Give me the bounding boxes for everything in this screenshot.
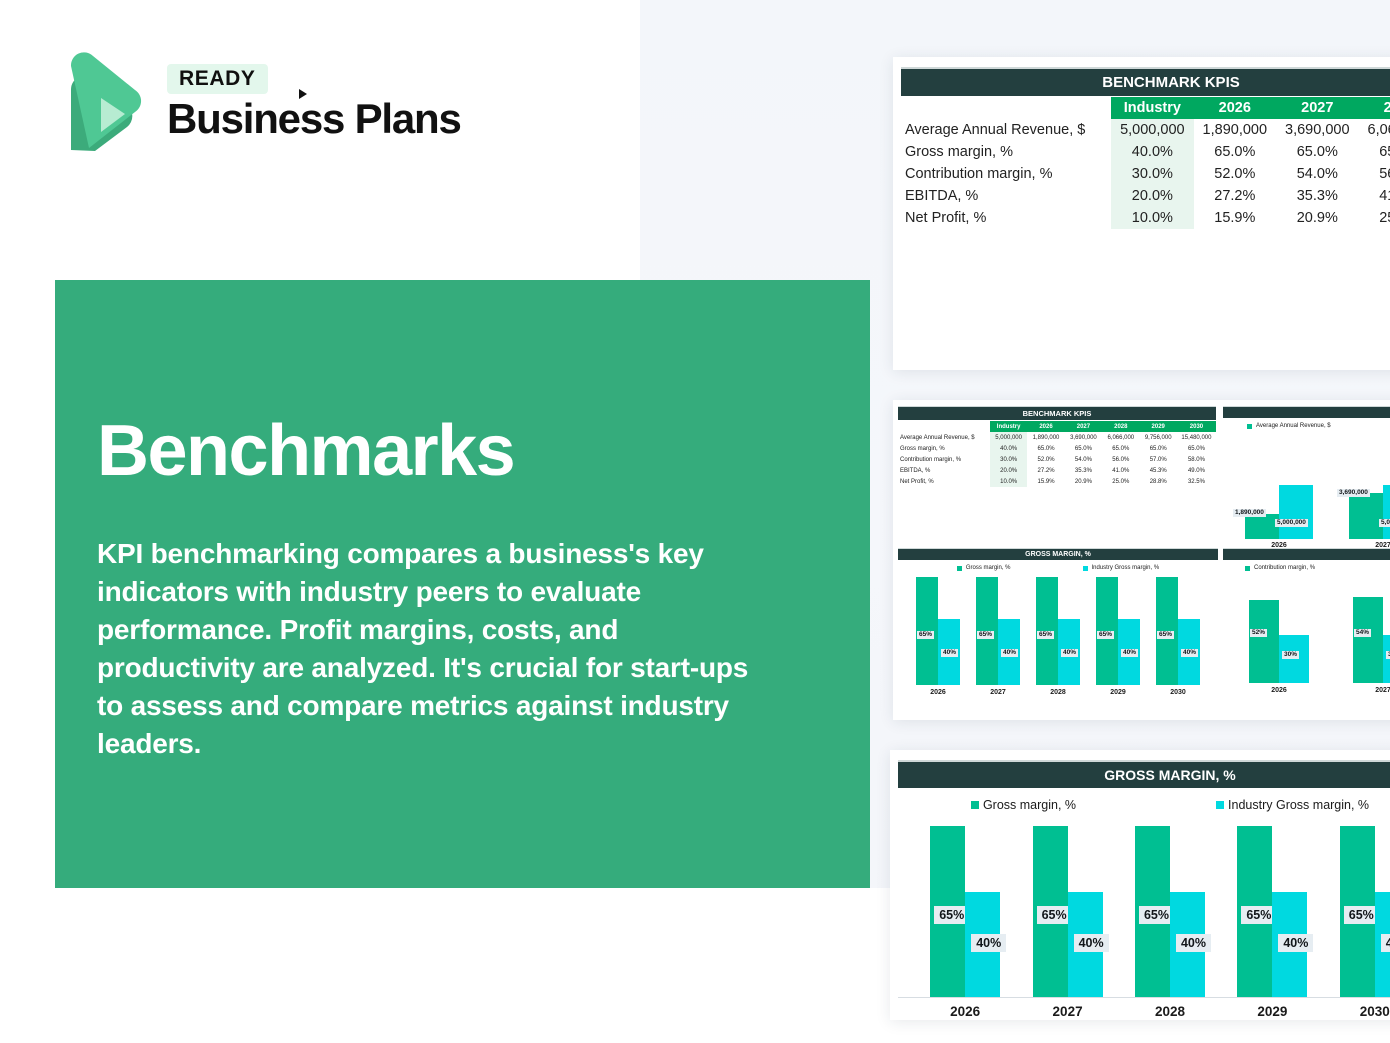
xcat-2028: 2028	[1030, 689, 1086, 696]
bar-label-company-2026: 52%	[1250, 629, 1267, 638]
bar-company-2026: 65%	[916, 577, 938, 685]
table-row: Gross margin, % 40.0% 65.0% 65.0% 65.0% …	[898, 443, 1216, 454]
legend-swatch-cyan-icon	[1083, 566, 1088, 571]
cell-cm-industry: 30.0%	[1111, 163, 1193, 185]
table-row: Contribution margin, % 30.0% 52.0% 54.0%…	[898, 454, 1216, 465]
cell-cm-2028: 56.0%	[1359, 163, 1390, 185]
mini-cell-np-2026: 15.9%	[1027, 476, 1064, 487]
mini-cell-revenue-2028: 6,066,000	[1102, 432, 1139, 443]
bar-company-2028: 65%	[1036, 577, 1058, 685]
bar-label-industry-2027: 5,000,000	[1379, 519, 1390, 528]
cell-ebitda-industry: 20.0%	[1111, 185, 1193, 207]
mini-cell-ebitda-2026: 27.2%	[1027, 465, 1064, 476]
cell-revenue-2026: 1,890,000	[1194, 119, 1276, 141]
mini-col-2028: 2028	[1102, 421, 1139, 432]
bar-industry-2027: 40%	[998, 619, 1020, 685]
chart-legend-gross-margin-large: Gross margin, % Industry Gross margin, %	[898, 798, 1390, 812]
chart-contribution-margin: CONTRIBUTION MARGIN, % Contribution marg…	[1223, 548, 1390, 694]
mini-cell-np-2027: 20.9%	[1065, 476, 1102, 487]
mini-col-2027: 2027	[1065, 421, 1102, 432]
legend-item-company-gm: Gross margin, %	[971, 798, 1076, 812]
bar-group-2026: 65% 40%	[922, 826, 1008, 998]
mini-cell-gm-2028: 65.0%	[1102, 443, 1139, 454]
bar-label-industry-2030: 40%	[1381, 934, 1390, 953]
bar-company-2027: 65%	[1033, 826, 1068, 998]
table-row: Net Profit, % 10.0% 15.9% 20.9% 25.0%	[901, 207, 1390, 229]
legend-item-company-cm: Contribution margin, %	[1245, 565, 1315, 571]
mini-cell-gm-2030: 65.0%	[1177, 443, 1216, 454]
table-header-row: Industry 2026 2027 2028 2029 2030	[898, 421, 1216, 432]
chart-legend-revenue: Average Annual Revenue, $	[1223, 423, 1390, 429]
table-row: Contribution margin, % 30.0% 52.0% 54.0%…	[901, 163, 1390, 185]
bar-label-industry-2028: 40%	[1176, 934, 1211, 953]
hero-description: KPI benchmarking compares a business's k…	[97, 535, 757, 763]
kpi-table-large: BENCHMARK KPIS Industry 2026 2027 2028 A…	[901, 67, 1390, 229]
chart-title-contribution-margin: CONTRIBUTION MARGIN, %	[1223, 548, 1390, 560]
xcat-2030: 2030	[1150, 689, 1206, 696]
legend-label-company-gm: Gross margin, %	[983, 798, 1076, 812]
bar-group-2027: 65% 40%	[970, 577, 1026, 685]
bar-group-2028: 65% 40%	[1030, 577, 1086, 685]
chart-title-revenue: AVERAGE ANNUAL REVENUE, $	[1223, 406, 1390, 418]
bar-industry-2027: 30%	[1383, 635, 1390, 683]
ready-badge: READY	[167, 64, 268, 94]
bar-label-company-2030: 65%	[1344, 906, 1379, 925]
cell-np-2026: 15.9%	[1194, 207, 1276, 229]
mini-row-label-revenue: Average Annual Revenue, $	[898, 432, 990, 443]
mini-col-2029: 2029	[1140, 421, 1177, 432]
bar-label-company-2027: 54%	[1354, 629, 1371, 638]
table-row: EBITDA, % 20.0% 27.2% 35.3% 41.0%	[901, 185, 1390, 207]
mini-cell-ebitda-industry: 20.0%	[990, 465, 1027, 476]
legend-item-company-revenue: Average Annual Revenue, $	[1247, 423, 1331, 429]
mini-cell-gm-2026: 65.0%	[1027, 443, 1064, 454]
row-label-contribution-margin: Contribution margin, %	[901, 163, 1111, 185]
bar-label-industry-2027: 40%	[1074, 934, 1109, 953]
legend-label-company-cm: Contribution margin, %	[1254, 565, 1315, 571]
table-row: Average Annual Revenue, $ 5,000,000 1,89…	[898, 432, 1216, 443]
cell-cm-2026: 52.0%	[1194, 163, 1276, 185]
legend-item-company-gm-small: Gross margin, %	[957, 565, 1011, 571]
mini-row-label-ebitda: EBITDA, %	[898, 465, 990, 476]
bar-label-industry-2026: 40%	[941, 649, 958, 658]
xcat-2028: 2028	[1127, 1004, 1213, 1019]
bar-industry-2027: 40%	[1068, 892, 1103, 998]
panel-benchmark-dashboard: BENCHMARK KPIS Industry 2026 2027 2028 2…	[893, 400, 1390, 720]
table-row: EBITDA, % 20.0% 27.2% 35.3% 41.0% 45.3% …	[898, 465, 1216, 476]
bar-group-2030: 65% 40%	[1150, 577, 1206, 685]
bar-company-2029: 65%	[1237, 826, 1272, 998]
bar-label-company-2029: 65%	[1241, 906, 1276, 925]
mini-cell-gm-2027: 65.0%	[1065, 443, 1102, 454]
row-label-revenue: Average Annual Revenue, $	[901, 119, 1111, 141]
bar-industry-2028: 40%	[1170, 892, 1205, 998]
mini-row-label-gross-margin: Gross margin, %	[898, 443, 990, 454]
xcat-2029: 2029	[1090, 689, 1146, 696]
bar-label-industry-2026: 30%	[1282, 651, 1299, 660]
col-2027: 2027	[1276, 97, 1358, 119]
bar-group-2026: 1,890,000 5,000,000	[1237, 435, 1321, 539]
chart-legend-gross-margin-small: Gross margin, % Industry Gross margin, %	[898, 565, 1218, 571]
kpi-table-title: BENCHMARK KPIS	[901, 67, 1390, 96]
slide-canvas: READY Business Plans Benchmarks KPI benc…	[0, 0, 1390, 1043]
xcat-2027: 2027	[1025, 1004, 1111, 1019]
page-title: Benchmarks	[97, 415, 514, 487]
mini-col-2026: 2026	[1027, 421, 1064, 432]
bar-label-company-2026: 65%	[934, 906, 969, 925]
mini-cell-ebitda-2027: 35.3%	[1065, 465, 1102, 476]
bar-label-industry-2028: 40%	[1061, 649, 1078, 658]
bar-industry-2026: 5,000,000	[1279, 485, 1313, 539]
bar-label-company-2027: 3,690,000	[1337, 489, 1370, 498]
mini-cell-revenue-2029: 9,756,000	[1140, 432, 1177, 443]
bar-industry-2026: 40%	[965, 892, 1000, 998]
xcat-2029: 2029	[1229, 1004, 1315, 1019]
panel-benchmark-kpis-table: BENCHMARK KPIS Industry 2026 2027 2028 A…	[893, 57, 1390, 370]
cell-revenue-industry: 5,000,000	[1111, 119, 1193, 141]
bar-group-2030: 65% 40%	[1332, 826, 1390, 998]
mini-cell-cm-2030: 58.0%	[1177, 454, 1216, 465]
bar-industry-2026: 30%	[1279, 635, 1309, 683]
brand-accent-tick-icon	[299, 89, 307, 99]
mini-cell-gm-2029: 65.0%	[1140, 443, 1177, 454]
row-label-net-profit: Net Profit, %	[901, 207, 1111, 229]
chart-xaxis-gross-margin-large: 2026 2027 2028 2029 2030	[898, 1004, 1390, 1019]
bar-company-2026: 65%	[930, 826, 965, 998]
bar-group-2029: 65% 40%	[1229, 826, 1315, 998]
mini-cell-revenue-2027: 3,690,000	[1065, 432, 1102, 443]
legend-label-company-revenue: Average Annual Revenue, $	[1256, 423, 1331, 429]
cell-gm-2027: 65.0%	[1276, 141, 1358, 163]
legend-swatch-cyan-icon	[1216, 801, 1224, 809]
brand-name: Business Plans	[167, 98, 461, 140]
mini-cell-np-2029: 28.8%	[1140, 476, 1177, 487]
mini-col-2030: 2030	[1177, 421, 1216, 432]
mini-cell-ebitda-2028: 41.0%	[1102, 465, 1139, 476]
bar-company-2026: 1,890,000	[1245, 514, 1279, 539]
bar-label-industry-2026: 40%	[971, 934, 1006, 953]
bar-company-2027: 3,690,000	[1349, 493, 1383, 539]
legend-swatch-green-icon	[1247, 424, 1252, 429]
xcat-2026: 2026	[922, 1004, 1008, 1019]
bar-industry-2026: 40%	[938, 619, 960, 685]
bar-label-industry-2027: 40%	[1001, 649, 1018, 658]
brand-name-text: Business Plans	[167, 95, 461, 142]
cell-revenue-2027: 3,690,000	[1276, 119, 1358, 141]
mini-cell-cm-2027: 54.0%	[1065, 454, 1102, 465]
xcat-2027: 2027	[1341, 687, 1390, 694]
panel-gross-margin-chart: GROSS MARGIN, % Gross margin, % Industry…	[890, 750, 1390, 1020]
cell-np-industry: 10.0%	[1111, 207, 1193, 229]
chart-average-annual-revenue: AVERAGE ANNUAL REVENUE, $ Average Annual…	[1223, 406, 1390, 549]
bar-industry-2029: 40%	[1272, 892, 1307, 998]
bar-label-company-2028: 65%	[1139, 906, 1174, 925]
bar-group-2029: 65% 40%	[1090, 577, 1146, 685]
mini-cell-np-industry: 10.0%	[990, 476, 1027, 487]
chart-legend-contribution-margin: Contribution margin, %	[1223, 565, 1390, 571]
cell-ebitda-2026: 27.2%	[1194, 185, 1276, 207]
bar-group-2027: 54% 30%	[1341, 579, 1390, 683]
col-industry: Industry	[1111, 97, 1193, 119]
bar-group-2026: 52% 30%	[1237, 579, 1321, 683]
brand-logo[interactable]: READY Business Plans	[55, 52, 461, 152]
mini-col-industry: Industry	[990, 421, 1027, 432]
kpi-table: Industry 2026 2027 2028 Average Annual R…	[901, 97, 1390, 229]
mini-cell-np-2030: 32.5%	[1177, 476, 1216, 487]
bar-label-company-2029: 65%	[1097, 631, 1114, 640]
mini-cell-np-2028: 25.0%	[1102, 476, 1139, 487]
bar-group-2028: 65% 40%	[1127, 826, 1213, 998]
bar-industry-2030: 40%	[1375, 892, 1390, 998]
bar-label-industry-2027: 30%	[1386, 651, 1390, 660]
col-2028: 2028	[1359, 97, 1390, 119]
bar-label-company-2026: 1,890,000	[1233, 509, 1266, 518]
legend-swatch-green-icon	[1245, 566, 1250, 571]
chart-xaxis-contribution-margin: 2026 2027 2028	[1223, 687, 1390, 694]
mini-cell-cm-2026: 52.0%	[1027, 454, 1064, 465]
xcat-2027: 2027	[970, 689, 1026, 696]
mini-cell-ebitda-2030: 49.0%	[1177, 465, 1216, 476]
mini-cell-ebitda-2029: 45.3%	[1140, 465, 1177, 476]
bar-company-2028: 65%	[1135, 826, 1170, 998]
table-header-row: Industry 2026 2027 2028	[901, 97, 1390, 119]
bar-group-2027: 3,690,000 5,000,000	[1341, 435, 1390, 539]
row-label-ebitda: EBITDA, %	[901, 185, 1111, 207]
play-triangle-logo-icon	[55, 52, 147, 152]
mini-cell-cm-2029: 57.0%	[1140, 454, 1177, 465]
kpi-table-mini: Industry 2026 2027 2028 2029 2030 Averag…	[898, 421, 1216, 487]
bar-company-2027: 65%	[976, 577, 998, 685]
legend-label-industry-gm: Industry Gross margin, %	[1228, 798, 1369, 812]
legend-label-industry-gm-small: Industry Gross margin, %	[1092, 565, 1160, 571]
row-label-gross-margin: Gross margin, %	[901, 141, 1111, 163]
chart-title-gross-margin-large: GROSS MARGIN, %	[898, 760, 1390, 788]
legend-item-industry-gm: Industry Gross margin, %	[1216, 798, 1369, 812]
hero-panel: Benchmarks KPI benchmarking compares a b…	[55, 280, 870, 888]
mini-cell-revenue-industry: 5,000,000	[990, 432, 1027, 443]
legend-label-company-gm-small: Gross margin, %	[966, 565, 1011, 571]
bar-company-2030: 65%	[1156, 577, 1178, 685]
table-row: Average Annual Revenue, $ 5,000,000 1,89…	[901, 119, 1390, 141]
legend-item-industry-gm-small: Industry Gross margin, %	[1083, 565, 1160, 571]
bar-company-2030: 65%	[1340, 826, 1375, 998]
cell-revenue-2028: 6,066,000	[1359, 119, 1390, 141]
table-row: Net Profit, % 10.0% 15.9% 20.9% 25.0% 28…	[898, 476, 1216, 487]
legend-swatch-green-icon	[971, 801, 979, 809]
chart-plot-contribution-margin: 52% 30% 54% 30% 56%	[1223, 579, 1390, 683]
col-2026: 2026	[1194, 97, 1276, 119]
cell-ebitda-2027: 35.3%	[1276, 185, 1358, 207]
cell-gm-2026: 65.0%	[1194, 141, 1276, 163]
xcat-2030: 2030	[1332, 1004, 1390, 1019]
xcat-2026: 2026	[910, 689, 966, 696]
chart-plot-gross-margin-large: 65% 40% 65% 40% 65%	[898, 826, 1390, 998]
chart-xaxis-gross-margin-small: 2026 2027 2028 2029 2030	[898, 689, 1218, 696]
mini-row-header-blank	[898, 421, 990, 432]
bar-label-industry-2029: 40%	[1121, 649, 1138, 658]
cell-ebitda-2028: 41.0%	[1359, 185, 1390, 207]
bar-company-2026: 52%	[1249, 600, 1279, 683]
cell-gm-industry: 40.0%	[1111, 141, 1193, 163]
cell-gm-2028: 65.0%	[1359, 141, 1390, 163]
chart-gross-margin-large: GROSS MARGIN, % Gross margin, % Industry…	[898, 760, 1390, 1019]
xcat-2026: 2026	[1237, 687, 1321, 694]
mini-cell-gm-industry: 40.0%	[990, 443, 1027, 454]
mini-row-label-net-profit: Net Profit, %	[898, 476, 990, 487]
bar-label-company-2027: 65%	[977, 631, 994, 640]
mini-cell-revenue-2030: 15,480,000	[1177, 432, 1216, 443]
bar-label-company-2030: 65%	[1157, 631, 1174, 640]
bar-label-industry-2030: 40%	[1181, 649, 1198, 658]
chart-plot-revenue: 1,890,000 5,000,000 3,690,000 5,000,000	[1223, 435, 1390, 539]
bar-industry-2028: 40%	[1058, 619, 1080, 685]
bar-industry-2029: 40%	[1118, 619, 1140, 685]
bar-label-company-2026: 65%	[917, 631, 934, 640]
bar-label-industry-2026: 5,000,000	[1275, 519, 1308, 528]
bar-label-company-2028: 65%	[1037, 631, 1054, 640]
cell-np-2027: 20.9%	[1276, 207, 1358, 229]
mini-cell-revenue-2026: 1,890,000	[1027, 432, 1064, 443]
chart-axis-line	[898, 997, 1390, 998]
bar-company-2027: 54%	[1353, 597, 1383, 683]
bar-industry-2027: 5,000,000	[1383, 485, 1390, 539]
cell-np-2028: 25.0%	[1359, 207, 1390, 229]
mini-cell-cm-industry: 30.0%	[990, 454, 1027, 465]
bar-company-2029: 65%	[1096, 577, 1118, 685]
bar-group-2026: 65% 40%	[910, 577, 966, 685]
chart-plot-gross-margin-small: 65% 40% 65% 40% 65%	[898, 577, 1218, 685]
cell-cm-2027: 54.0%	[1276, 163, 1358, 185]
bar-group-2027: 65% 40%	[1025, 826, 1111, 998]
bar-label-industry-2029: 40%	[1278, 934, 1313, 953]
mini-cell-cm-2028: 56.0%	[1102, 454, 1139, 465]
legend-swatch-green-icon	[957, 566, 962, 571]
bar-label-company-2027: 65%	[1037, 906, 1072, 925]
mini-row-label-contribution-margin: Contribution margin, %	[898, 454, 990, 465]
kpi-table-small-title: BENCHMARK KPIS	[898, 406, 1216, 420]
bar-industry-2030: 40%	[1178, 619, 1200, 685]
kpi-row-header-blank	[901, 97, 1111, 119]
chart-gross-margin-small: GROSS MARGIN, % Gross margin, % Industry…	[898, 548, 1218, 696]
table-row: Gross margin, % 40.0% 65.0% 65.0% 65.0%	[901, 141, 1390, 163]
chart-title-gross-margin-small: GROSS MARGIN, %	[898, 548, 1218, 560]
